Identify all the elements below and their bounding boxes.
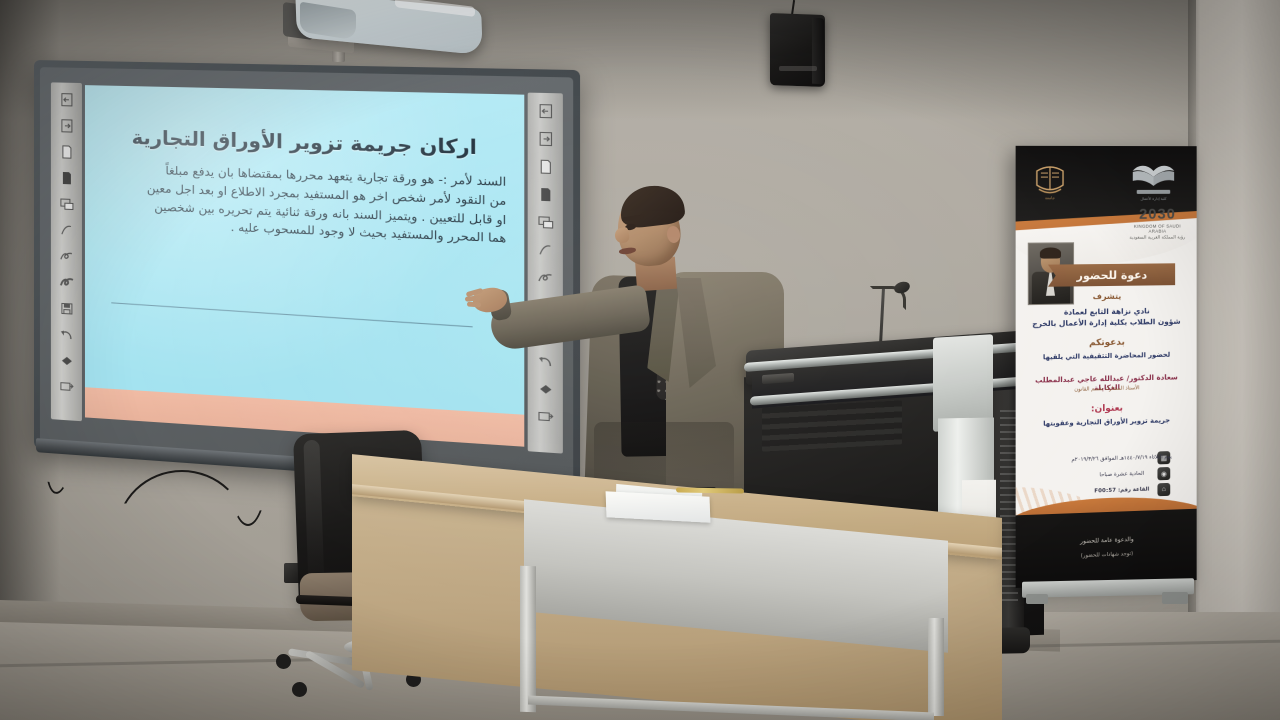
screen-capture-icon[interactable]	[56, 194, 76, 215]
slide-title: اركان جريمة تزوير الأوراق التجارية	[103, 126, 508, 161]
table-leg	[928, 618, 944, 716]
lecture-hall-photo: اركان جريمة تزوير الأوراق التجارية السند…	[0, 0, 1280, 720]
pen-thick-icon[interactable]	[56, 272, 76, 293]
vision-2030-latin: KINGDOM OF SAUDI ARABIA	[1126, 223, 1189, 233]
banner-footer-band	[1016, 509, 1197, 588]
page-forward-icon[interactable]	[534, 128, 557, 150]
table-leg	[520, 566, 536, 713]
projected-slide: اركان جريمة تزوير الأوراق التجارية السند…	[85, 85, 524, 447]
slide-divider-line	[111, 302, 472, 327]
vision-2030-logo: 2030 KINGDOM OF SAUDI ARABIA رؤية المملك…	[1126, 206, 1189, 241]
pen-medium-icon[interactable]	[56, 246, 76, 267]
undo-icon[interactable]	[56, 324, 76, 345]
banner-club-line-1: نادي نزاهة التابع لعمادة	[1064, 306, 1150, 316]
portrait-hair	[1040, 247, 1061, 258]
finger	[467, 302, 481, 308]
desktop-icon[interactable]	[56, 376, 76, 397]
lectern-rack-vent	[762, 400, 902, 451]
banner-invite: بدعوتكم	[1022, 336, 1191, 349]
page-forward-icon[interactable]	[56, 116, 76, 137]
university-seal-logo: جامعة	[1030, 160, 1070, 204]
slide-body: السند لأمر :- هو ورقة تجارية يتعهد محرره…	[85, 160, 513, 250]
banner-ribbon-title: دعوة للحضور	[1048, 263, 1175, 286]
vision-2030-number: 2030	[1126, 206, 1189, 223]
chair-caster	[276, 654, 291, 669]
banner-foot	[1162, 592, 1188, 604]
open-book-logo: كلية إدارة الأعمال	[1128, 158, 1179, 204]
banner-ribbon-text: دعوة للحضور	[1077, 268, 1148, 282]
svg-text:جامعة: جامعة	[1045, 195, 1055, 200]
save-icon[interactable]	[56, 298, 76, 319]
page-back-icon[interactable]	[56, 90, 76, 111]
pen-thin-icon[interactable]	[56, 220, 76, 241]
banner-lecture-intro: لحضور المحاضرة التثقيفية التي يلقيها	[1022, 350, 1191, 361]
speaker-side-panel	[812, 18, 824, 85]
eraser-icon[interactable]	[56, 350, 76, 371]
black-page-icon[interactable]	[56, 168, 76, 189]
page-back-icon[interactable]	[534, 100, 557, 122]
svg-text:كلية إدارة الأعمال: كلية إدارة الأعمال	[1141, 196, 1167, 202]
whiteboard-toolbar-left[interactable]	[51, 82, 82, 421]
papers-on-table[interactable]	[606, 491, 711, 523]
new-page-icon[interactable]	[56, 142, 76, 163]
banner-honored-by: يتشرف	[1022, 291, 1191, 302]
speaker-grille	[779, 66, 817, 71]
banner-club-name: نادي نزاهة التابع لعمادة شؤون الطلاب بكل…	[1022, 305, 1191, 330]
banner-topic: جريمة تزوير الأوراق التجارية وعقوبتها	[1022, 416, 1191, 429]
vision-2030-arabic: رؤية المملكة العربية السعودية	[1126, 235, 1189, 240]
chair-caster	[292, 682, 307, 697]
banner-foot	[1026, 594, 1048, 604]
banner-topic-label: بعنوان:	[1022, 402, 1191, 416]
banner-club-line-2: شؤون الطلاب بكلية إدارة الأعمال بالخرج	[1032, 317, 1180, 328]
rollup-banner: جامعة كلية إدارة الأعمال 2030 KINGDOM OF…	[1016, 146, 1197, 588]
